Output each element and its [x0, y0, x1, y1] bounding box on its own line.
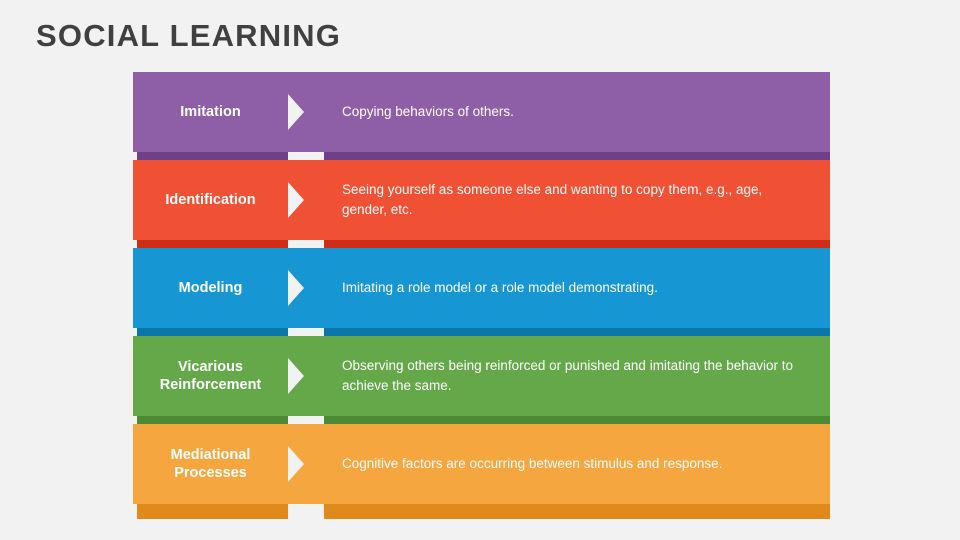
- row-body-group: Observing others being reinforced or pun…: [288, 336, 830, 424]
- row-label-group: Modeling: [133, 248, 288, 336]
- row-label-group: Mediational Processes: [133, 424, 288, 512]
- row-description: Seeing yourself as someone else and want…: [342, 180, 808, 221]
- row-description: Cognitive factors are occurring between …: [342, 454, 722, 474]
- row-body[interactable]: Seeing yourself as someone else and want…: [288, 160, 830, 240]
- row-body-group: Imitating a role model or a role model d…: [288, 248, 830, 336]
- chevron-right-icon: [288, 182, 304, 218]
- row-body-group: Cognitive factors are occurring between …: [288, 424, 830, 512]
- row-body[interactable]: Imitating a role model or a role model d…: [288, 248, 830, 328]
- list-item[interactable]: Mediational Processes Cognitive factors …: [0, 424, 960, 512]
- row-body-group: Seeing yourself as someone else and want…: [288, 160, 830, 248]
- chevron-right-icon: [288, 446, 304, 482]
- row-body[interactable]: Copying behaviors of others.: [288, 72, 830, 152]
- row-label[interactable]: Imitation: [133, 72, 288, 152]
- chevron-right-icon: [288, 94, 304, 130]
- page-title: SOCIAL LEARNING: [36, 18, 341, 54]
- row-label[interactable]: Mediational Processes: [133, 424, 288, 504]
- process-list: Imitation Copying behaviors of others. I…: [0, 72, 960, 512]
- row-body[interactable]: Cognitive factors are occurring between …: [288, 424, 830, 504]
- row-body-group: Copying behaviors of others.: [288, 72, 830, 160]
- row-label-group: Identification: [133, 160, 288, 248]
- row-label-group: Imitation: [133, 72, 288, 160]
- row-label[interactable]: Identification: [133, 160, 288, 240]
- chevron-right-icon: [288, 358, 304, 394]
- list-item[interactable]: Vicarious Reinforcement Observing others…: [0, 336, 960, 424]
- row-description: Imitating a role model or a role model d…: [342, 278, 658, 298]
- row-label-group: Vicarious Reinforcement: [133, 336, 288, 424]
- chevron-right-icon: [288, 270, 304, 306]
- row-body[interactable]: Observing others being reinforced or pun…: [288, 336, 830, 416]
- row-description: Copying behaviors of others.: [342, 102, 514, 122]
- list-item[interactable]: Modeling Imitating a role model or a rol…: [0, 248, 960, 336]
- row-description: Observing others being reinforced or pun…: [342, 356, 808, 397]
- slide: SOCIAL LEARNING Imitation Copying behavi…: [0, 0, 960, 540]
- row-label[interactable]: Vicarious Reinforcement: [133, 336, 288, 416]
- row-label[interactable]: Modeling: [133, 248, 288, 328]
- list-item[interactable]: Imitation Copying behaviors of others.: [0, 72, 960, 160]
- list-item[interactable]: Identification Seeing yourself as someon…: [0, 160, 960, 248]
